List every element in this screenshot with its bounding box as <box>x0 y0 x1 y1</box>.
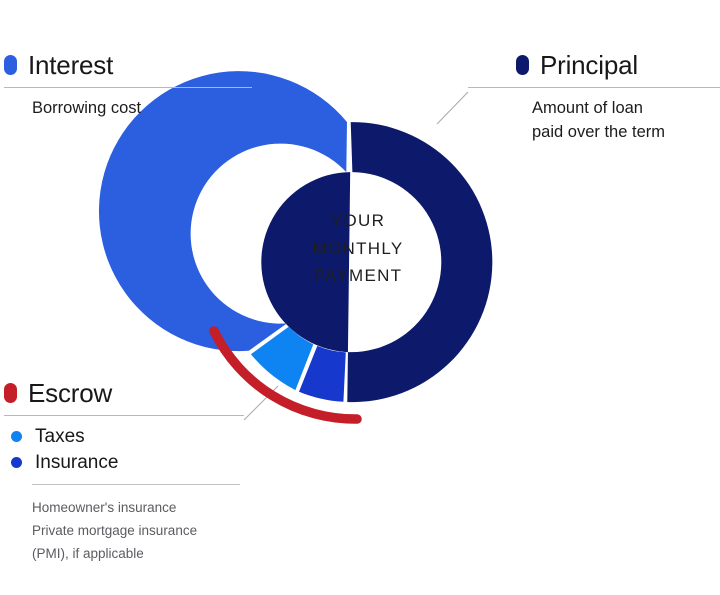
callout-interest-header: Interest <box>4 52 252 78</box>
escrow-note-line-3: (PMI), if applicable <box>32 542 244 565</box>
callout-principal-title: Principal <box>540 52 638 78</box>
callout-escrow-title: Escrow <box>28 380 112 406</box>
principal-swatch-icon <box>516 55 529 75</box>
legend-item-taxes-label: Taxes <box>35 427 85 446</box>
callout-interest[interactable]: Interest Borrowing cost <box>4 52 252 120</box>
callout-escrow-header: Escrow <box>4 380 244 406</box>
insurance-dot-icon <box>11 457 22 468</box>
callout-interest-title: Interest <box>28 52 113 78</box>
legend-item-insurance[interactable]: Insurance <box>9 453 244 472</box>
escrow-note-line-2: Private mortgage insurance <box>32 519 244 542</box>
interest-swatch-icon <box>4 55 17 75</box>
escrow-notes-divider <box>32 484 240 485</box>
taxes-dot-icon <box>11 431 22 442</box>
legend-item-taxes[interactable]: Taxes <box>9 427 244 446</box>
callout-escrow[interactable]: Escrow Taxes Insurance Homeowner's insur… <box>4 380 244 566</box>
legend-item-insurance-label: Insurance <box>35 453 118 472</box>
callout-interest-rule <box>4 87 252 88</box>
chart-canvas: YOUR MONTHLY PAYMENT Interest Borrowing … <box>0 0 720 595</box>
callout-principal[interactable]: Principal Amount of loan paid over the t… <box>468 52 720 145</box>
callout-principal-rule <box>468 87 720 88</box>
callout-interest-description: Borrowing cost <box>32 97 252 120</box>
escrow-note-line-1: Homeowner's insurance <box>32 496 244 519</box>
escrow-sub-legend: Taxes Insurance <box>9 427 244 472</box>
escrow-swatch-icon <box>4 383 17 403</box>
callout-escrow-rule <box>4 415 244 416</box>
callout-principal-description-line-2: paid over the term <box>532 121 720 144</box>
callout-principal-description-line-1: Amount of loan <box>532 97 720 120</box>
escrow-notes: Homeowner's insurance Private mortgage i… <box>32 496 244 566</box>
callout-principal-header: Principal <box>516 52 720 78</box>
